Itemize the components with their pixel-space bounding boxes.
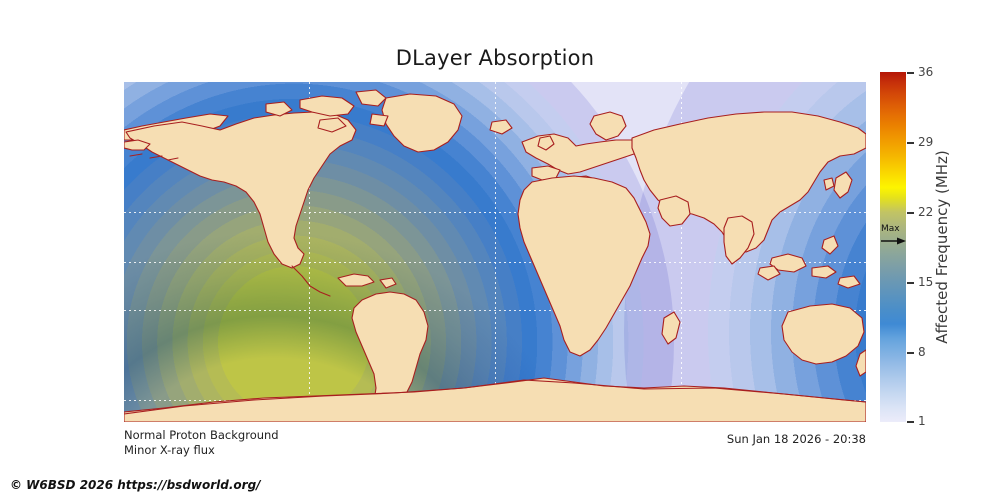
status-line-xray: Minor X-ray flux: [124, 443, 279, 458]
colorbar-tick: [907, 352, 914, 354]
colorbar-tick: [907, 212, 914, 214]
colorbar-gradient: [880, 72, 906, 422]
colorbar[interactable]: Max 36 29 22 15 8 1: [880, 72, 906, 422]
colorbar-tick: [907, 72, 914, 74]
page-title: DLayer Absorption: [124, 46, 866, 70]
colorbar-max-label: Max: [881, 224, 900, 234]
colorbar-axis-label-text: Affected Frequency (MHz): [933, 150, 951, 344]
world-absorption-map[interactable]: [124, 82, 866, 422]
colorbar-axis-label: Affected Frequency (MHz): [932, 72, 952, 422]
colorbar-tick-label: 36: [918, 65, 933, 79]
landmass-layer: [124, 82, 866, 422]
colorbar-tick-label: 1: [918, 414, 926, 428]
colorbar-tick-label: 15: [918, 275, 933, 289]
colorbar-tick: [907, 142, 914, 144]
status-caption: Normal Proton Background Minor X-ray flu…: [124, 428, 279, 458]
colorbar-tick: [907, 282, 914, 284]
colorbar-tick-label: 22: [918, 205, 933, 219]
colorbar-tick-label: 29: [918, 135, 933, 149]
footer-credit: © W6BSD 2026 https://bsdworld.org/: [10, 478, 261, 492]
colorbar-tick: [907, 421, 914, 423]
colorbar-tick-label: 8: [918, 345, 926, 359]
status-line-proton: Normal Proton Background: [124, 428, 279, 443]
right-arrow-icon: [880, 237, 906, 246]
map-timestamp: Sun Jan 18 2026 - 20:38: [727, 432, 866, 446]
